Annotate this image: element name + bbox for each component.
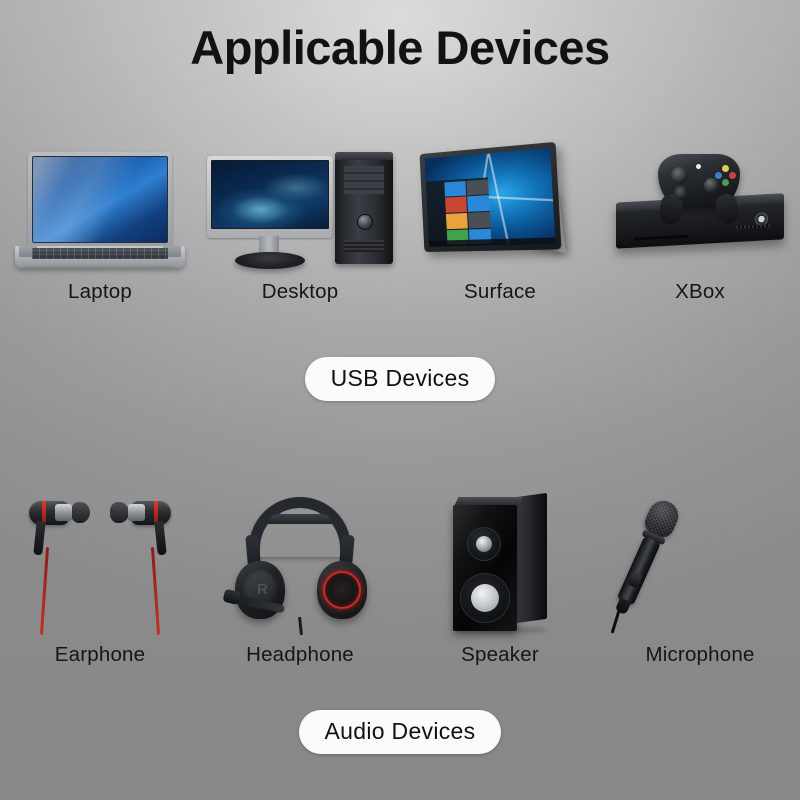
speaker-front-baffle: [453, 505, 517, 631]
brand-mark: R: [257, 581, 268, 598]
microphone-assembly: [602, 496, 683, 629]
earbud-stem: [154, 521, 167, 556]
tower-top-panel: [335, 152, 393, 160]
earbud-metal-barrel: [128, 504, 145, 521]
headband: [249, 497, 351, 557]
earbud-metal-barrel: [55, 504, 72, 521]
xbox-console-illustration: [600, 152, 800, 280]
monitor-screen: [211, 160, 329, 229]
usb-devices-badge-row: USB Devices: [0, 357, 800, 401]
microphone-illustration: [600, 495, 800, 643]
headphone-cable: [298, 617, 303, 635]
earbud-left: [29, 501, 91, 541]
device-label-headphone: Headphone: [246, 643, 354, 667]
earphones-illustration: [0, 495, 200, 643]
earphone-cable-left: [40, 547, 49, 635]
x-button: [715, 172, 722, 179]
woofer-driver: [460, 573, 510, 623]
laptop-illustration: [0, 152, 200, 280]
tower-power-button: [357, 214, 373, 230]
device-card-microphone: Microphone: [600, 495, 800, 667]
device-label-laptop: Laptop: [68, 280, 132, 304]
surface-tablet-illustration: [400, 152, 600, 280]
monitor: [207, 156, 333, 238]
device-card-speaker: Speaker: [400, 495, 600, 667]
start-menu-tiles: [444, 179, 491, 245]
speaker-side-panel: [517, 493, 547, 623]
infographic-root: Applicable Devices Laptop: [0, 0, 800, 800]
laptop-base: [15, 246, 185, 268]
y-button: [722, 165, 729, 172]
device-card-surface: Surface: [400, 152, 600, 304]
xbox-disc-slot: [634, 235, 688, 241]
a-button: [722, 179, 729, 186]
tower-vent: [344, 240, 384, 252]
device-card-desktop: Desktop: [200, 152, 400, 304]
desktop-computer-illustration: [200, 152, 400, 280]
earphone-cable-right: [151, 547, 160, 635]
page-title: Applicable Devices: [0, 20, 800, 75]
b-button: [729, 172, 736, 179]
xbox-controller: [658, 154, 740, 208]
device-label-microphone: Microphone: [645, 643, 754, 667]
speaker-illustration: [400, 495, 600, 643]
microphone-cable: [611, 610, 621, 634]
laptop-front-edge: [24, 264, 176, 268]
audio-devices-badge-row: Audio Devices: [0, 710, 800, 754]
tower-drive-bays: [344, 166, 384, 194]
headphone-illustration: R: [200, 495, 400, 643]
device-label-surface: Surface: [464, 280, 536, 304]
audio-devices-badge: Audio Devices: [299, 710, 502, 754]
audio-devices-row: Earphone R: [0, 495, 800, 667]
tweeter-driver: [467, 527, 501, 561]
device-label-earphone: Earphone: [55, 643, 146, 667]
laptop-keyboard: [32, 248, 168, 259]
usb-devices-row: Laptop Desktop: [0, 152, 800, 304]
computer-tower: [335, 152, 393, 264]
surface-body: [420, 142, 562, 252]
right-thumbstick: [704, 178, 719, 193]
earbud-right: [109, 501, 171, 541]
guide-button-icon: [694, 162, 703, 171]
earbud-stem: [33, 521, 46, 556]
led-ring-icon: [323, 571, 361, 609]
earcup-right: [317, 561, 367, 619]
device-card-earphone: Earphone: [0, 495, 200, 667]
ear-tip: [110, 502, 129, 523]
ear-tip: [71, 502, 90, 523]
device-card-xbox: XBox: [600, 152, 800, 304]
dpad: [674, 186, 688, 200]
xbox-vent: [736, 224, 770, 229]
surface-screen: [425, 148, 556, 247]
device-card-laptop: Laptop: [0, 152, 200, 304]
device-label-speaker: Speaker: [461, 643, 539, 667]
usb-devices-badge: USB Devices: [305, 357, 496, 401]
microphone-handle: [617, 536, 661, 605]
laptop-lid: [28, 152, 172, 248]
laptop-screen: [32, 156, 168, 243]
device-card-headphone: R Headphone: [200, 495, 400, 667]
monitor-stand-base: [235, 252, 305, 269]
device-label-xbox: XBox: [675, 280, 725, 304]
device-label-desktop: Desktop: [262, 280, 339, 304]
left-thumbstick: [671, 167, 688, 184]
